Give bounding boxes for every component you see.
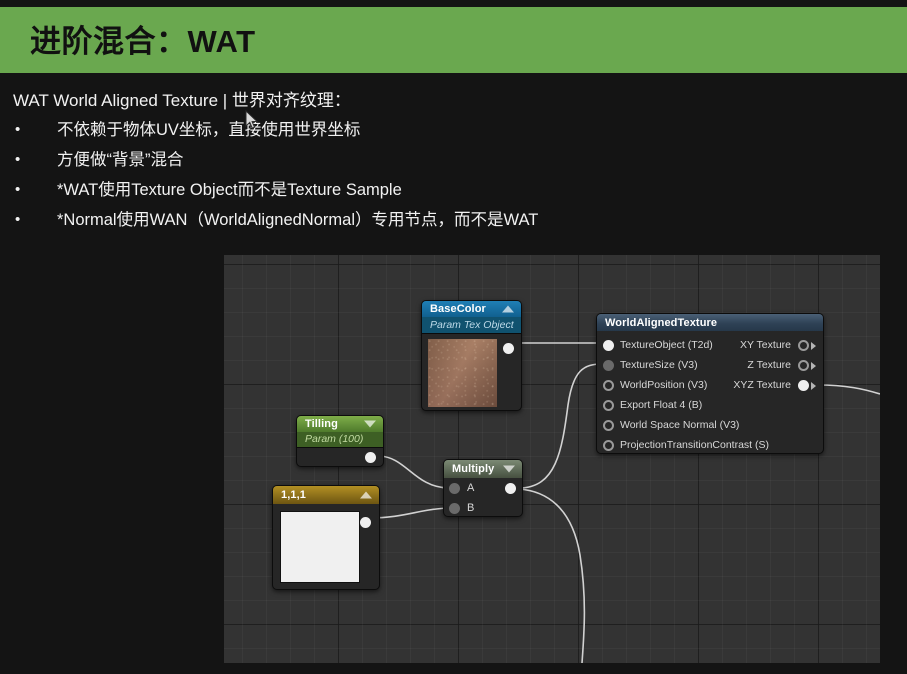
output-arrow-xy-texture bbox=[811, 342, 816, 350]
input-pin-a[interactable] bbox=[449, 483, 460, 494]
color-swatch-preview bbox=[280, 511, 360, 583]
bullet-marker-icon: • bbox=[13, 116, 57, 144]
node-body: A B bbox=[444, 478, 522, 517]
input-label-worldspacenormal: World Space Normal (V3) bbox=[620, 419, 739, 431]
output-pin-z-texture[interactable] bbox=[798, 360, 809, 371]
output-label-xyz-texture: XYZ Texture bbox=[733, 379, 791, 391]
output-pin-xyz-texture[interactable] bbox=[798, 380, 809, 391]
wire-xyztexture-to-offscreen-right bbox=[818, 385, 880, 394]
input-pin-textureobject[interactable] bbox=[603, 340, 614, 351]
wire-tilling-to-multiply-a bbox=[378, 456, 448, 488]
input-label-worldposition: WorldPosition (V3) bbox=[620, 379, 707, 391]
input-label-b: B bbox=[467, 502, 474, 514]
texture-preview-thumbnail bbox=[428, 339, 497, 407]
output-pin-constant[interactable] bbox=[360, 517, 371, 528]
input-pin-worldspacenormal[interactable] bbox=[603, 420, 614, 431]
node-tilling[interactable]: Tilling Param (100) bbox=[296, 415, 384, 467]
node-title-bar[interactable]: Multiply bbox=[444, 460, 522, 478]
node-title-label: WorldAlignedTexture bbox=[597, 317, 717, 329]
output-pin-multiply[interactable] bbox=[505, 483, 516, 494]
input-pin-worldposition[interactable] bbox=[603, 380, 614, 391]
input-label-projectiontransitioncontrast: ProjectionTransitionContrast (S) bbox=[620, 439, 769, 451]
chevron-down-icon[interactable] bbox=[503, 466, 515, 473]
output-label-z-texture: Z Texture bbox=[747, 359, 791, 371]
output-arrow-xyz-texture bbox=[811, 382, 816, 390]
list-item-text: *WAT使用Texture Object而不是Texture Sample bbox=[57, 176, 893, 204]
node-body: TextureObject (T2d) TextureSize (V3) Wor… bbox=[597, 331, 823, 455]
node-title-label: BaseColor bbox=[422, 303, 486, 315]
node-title-label: 1,1,1 bbox=[273, 489, 306, 501]
node-subtitle: Param (100) bbox=[297, 432, 383, 448]
node-title-bar[interactable]: 1,1,1 bbox=[273, 486, 379, 504]
bullet-marker-icon: • bbox=[13, 146, 57, 174]
page-title: 进阶混合：WAT bbox=[30, 16, 256, 61]
list-item-text: *Normal使用WAN（WorldAlignedNormal）专用节点，而不是… bbox=[57, 206, 893, 234]
bullet-marker-icon: • bbox=[13, 206, 57, 234]
chevron-down-icon[interactable] bbox=[364, 421, 376, 428]
output-label-xy-texture: XY Texture bbox=[740, 339, 791, 351]
node-multiply[interactable]: Multiply A B bbox=[443, 459, 523, 517]
list-item: • *WAT使用Texture Object而不是Texture Sample bbox=[13, 176, 893, 204]
list-item-text: 方便做“背景”混合 bbox=[57, 146, 893, 174]
node-title-bar[interactable]: Tilling bbox=[297, 416, 383, 432]
chevron-up-icon[interactable] bbox=[360, 492, 372, 499]
lead-line: WAT World Aligned Texture | 世界对齐纹理： bbox=[13, 88, 893, 114]
bullet-marker-icon: • bbox=[13, 176, 57, 204]
input-label-textureobject: TextureObject (T2d) bbox=[620, 339, 713, 351]
output-pin-xy-texture[interactable] bbox=[798, 340, 809, 351]
wire-multiply-to-offscreen-bottom bbox=[519, 489, 584, 663]
chevron-up-icon[interactable] bbox=[502, 306, 514, 313]
wire-multiply-to-texturesize bbox=[519, 364, 602, 488]
node-title-label: Tilling bbox=[297, 418, 338, 430]
material-node-graph[interactable]: WorldAlignedTexture TextureObject (T2d) … bbox=[224, 255, 880, 663]
list-item: • *Normal使用WAN（WorldAlignedNormal）专用节点，而… bbox=[13, 206, 893, 234]
node-world-aligned-texture[interactable]: WorldAlignedTexture TextureObject (T2d) … bbox=[596, 313, 824, 454]
wire-const-to-multiply-b bbox=[370, 508, 448, 518]
node-constant-vector[interactable]: 1,1,1 bbox=[272, 485, 380, 590]
node-title-label: Multiply bbox=[444, 463, 494, 475]
output-pin-basecolor[interactable] bbox=[503, 343, 514, 354]
input-pin-projectiontransitioncontrast[interactable] bbox=[603, 440, 614, 451]
list-item-text: 不依赖于物体UV坐标，直接使用世界坐标 bbox=[57, 116, 893, 144]
input-pin-b[interactable] bbox=[449, 503, 460, 514]
slide-body: WAT World Aligned Texture | 世界对齐纹理： • 不依… bbox=[13, 88, 893, 234]
list-item: • 方便做“背景”混合 bbox=[13, 146, 893, 174]
input-label-texturesize: TextureSize (V3) bbox=[620, 359, 698, 371]
input-pin-exportfloat4[interactable] bbox=[603, 400, 614, 411]
list-item: • 不依赖于物体UV坐标，直接使用世界坐标 bbox=[13, 116, 893, 144]
input-pin-texturesize[interactable] bbox=[603, 360, 614, 371]
output-arrow-z-texture bbox=[811, 362, 816, 370]
output-pin-tilling[interactable] bbox=[365, 452, 376, 463]
input-label-a: A bbox=[467, 482, 474, 494]
node-title-bar[interactable]: BaseColor bbox=[422, 301, 521, 317]
node-subtitle: Param Tex Object bbox=[422, 317, 521, 334]
input-label-exportfloat4: Export Float 4 (B) bbox=[620, 399, 702, 411]
node-base-color[interactable]: BaseColor Param Tex Object bbox=[421, 300, 522, 411]
node-title-bar[interactable]: WorldAlignedTexture bbox=[597, 314, 823, 331]
